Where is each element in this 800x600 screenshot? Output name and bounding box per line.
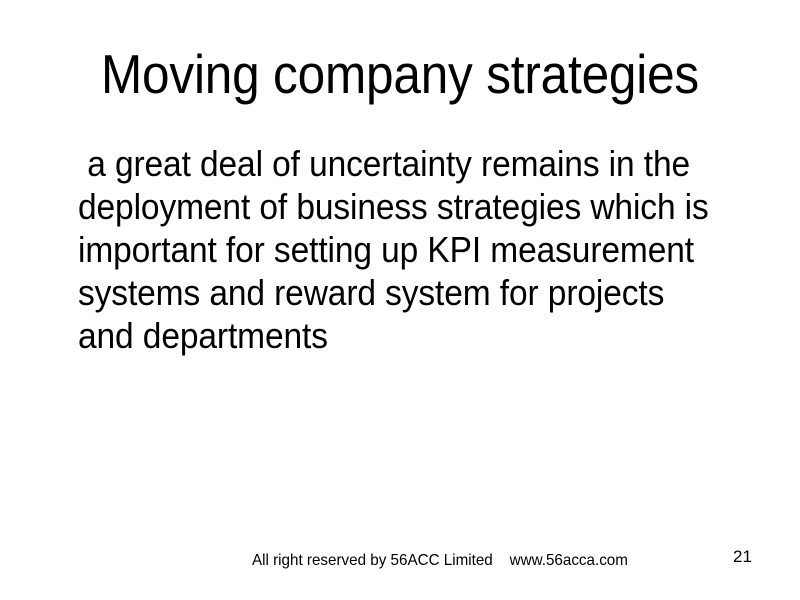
body-line: a great deal of uncertainty remains in t… [78,142,729,185]
page-number: 21 [733,547,752,567]
slide-body-text: a great deal of uncertainty remains in t… [78,142,778,357]
body-line: deployment of business strategies which … [78,185,729,228]
slide-canvas: Moving company strategies a great deal o… [0,0,800,600]
footer-copyright: All right reserved by 56ACC Limited www.… [252,551,628,571]
slide-title: Moving company strategies [40,44,760,104]
body-line: and departments [78,314,729,357]
body-line: important for setting up KPI measurement [78,228,729,271]
body-line: systems and reward system for projects [78,271,729,314]
